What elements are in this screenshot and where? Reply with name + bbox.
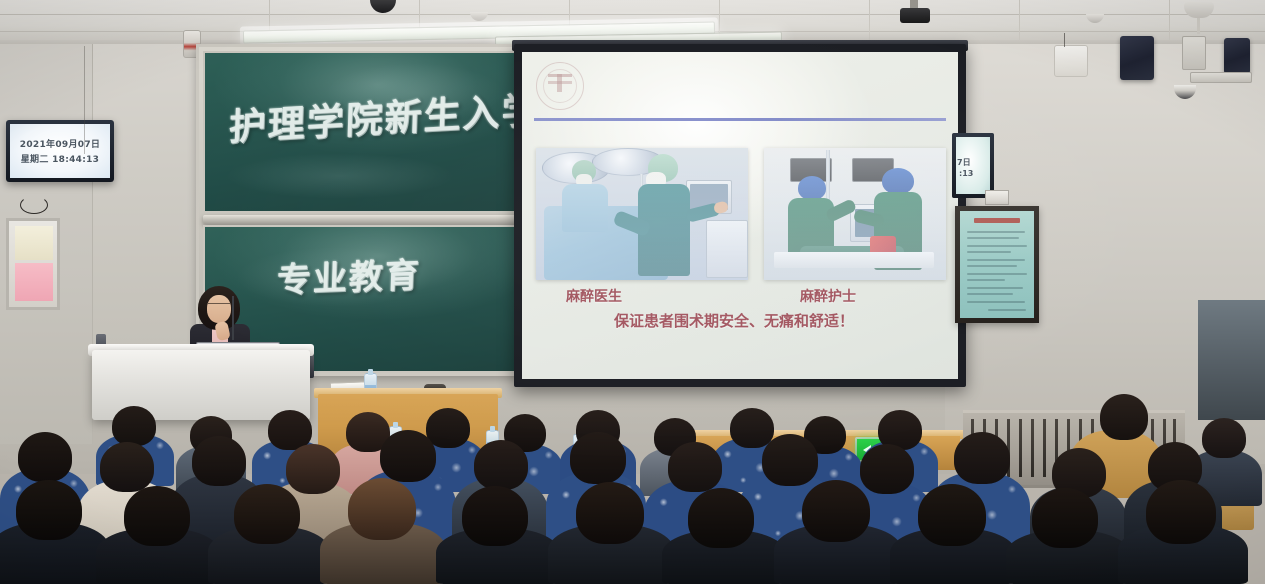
notice-content xyxy=(960,211,1034,318)
microphone-stem xyxy=(232,296,234,340)
blackboard-headline: 护理学院新生入学 xyxy=(228,79,521,151)
right-display-time: :13 xyxy=(959,169,973,178)
left-info-display-screen: 2021年09月07日 星期二 18:44:13 xyxy=(10,124,110,178)
left-info-display: 2021年09月07日 星期二 18:44:13 xyxy=(6,120,114,182)
student-head xyxy=(570,432,626,484)
student-head xyxy=(286,444,340,494)
seal-mark xyxy=(548,74,572,92)
blackboard-upper-panel: 护理学院新生入学 xyxy=(203,51,521,213)
cable xyxy=(1064,33,1065,47)
notice-paper-cream xyxy=(15,226,53,260)
slide-caption-bottom: 保证患者围术期安全、无痛和舒适！ xyxy=(614,310,854,331)
student-head xyxy=(762,434,818,486)
student-head xyxy=(18,432,72,482)
student-head xyxy=(234,484,300,544)
notice-title-bar xyxy=(974,218,1020,223)
left-display-date: 2021年09月07日 xyxy=(20,137,100,150)
student-head xyxy=(426,408,470,448)
projector-mount xyxy=(900,8,930,23)
small-wall-plate xyxy=(985,190,1009,205)
student-head xyxy=(380,430,436,482)
student-head xyxy=(16,480,82,540)
student-head xyxy=(802,480,870,542)
slide-divider-line xyxy=(534,118,946,121)
hanging-wire xyxy=(20,196,48,214)
presentation-slide: 麻醉医生 麻醉护士 保证患者围术期安全、无痛和舒适！ xyxy=(522,52,958,379)
right-info-display: 7日 :13 xyxy=(952,133,994,198)
notice-paper-pink xyxy=(15,263,53,301)
photo-projection-wash xyxy=(764,148,946,280)
student-head xyxy=(688,488,754,548)
student-head xyxy=(954,432,1010,484)
student-head xyxy=(730,408,774,448)
student-head xyxy=(576,482,644,544)
right-display-date: 7日 xyxy=(957,157,971,168)
slide-photo-anesthesia-nurses xyxy=(764,148,946,280)
wall-notice-board xyxy=(6,218,60,310)
student-head xyxy=(348,478,416,540)
attendee-head xyxy=(1100,394,1148,440)
projection-screen: 麻醉医生 麻醉护士 保证患者围术期安全、无痛和舒适！ xyxy=(514,44,966,387)
wall-cable xyxy=(84,46,85,154)
wall-fixture xyxy=(1182,36,1206,70)
student-head xyxy=(1032,488,1098,548)
student-head xyxy=(860,444,914,494)
attendee-head xyxy=(1202,418,1246,458)
student-head xyxy=(474,440,528,490)
lecture-hall-photo: 2021年09月07日 星期二 18:44:13 护理学院新生入学 专业教育 xyxy=(0,0,1265,584)
student-head xyxy=(112,406,156,446)
wall-speaker-icon xyxy=(1120,36,1154,80)
student-head xyxy=(1146,480,1216,544)
blackboard-subtitle: 专业教育 xyxy=(276,247,421,302)
audience xyxy=(0,394,1265,584)
wifi-access-point xyxy=(1054,45,1088,77)
right-info-display-screen: 7日 :13 xyxy=(956,137,990,194)
left-display-time: 星期二 18:44:13 xyxy=(21,152,100,165)
student-head xyxy=(668,442,722,492)
slide-caption-right: 麻醉护士 xyxy=(800,286,856,306)
slide-caption-left: 麻醉医生 xyxy=(566,286,622,306)
student-head xyxy=(124,486,190,546)
student-head xyxy=(918,484,986,546)
student-head xyxy=(100,442,154,492)
wall-fixture-bar xyxy=(1190,72,1252,83)
student-head xyxy=(462,486,528,546)
glasses-icon xyxy=(208,303,230,310)
photo-projection-wash xyxy=(536,148,748,280)
university-seal-icon xyxy=(536,62,584,110)
chalk-smudge xyxy=(225,153,455,199)
wall-speaker-icon xyxy=(1224,38,1250,74)
chalk-ledge xyxy=(203,215,521,224)
student-head xyxy=(192,436,246,486)
slide-photo-anesthesiologist xyxy=(536,148,748,280)
framed-wall-notice xyxy=(955,206,1039,323)
